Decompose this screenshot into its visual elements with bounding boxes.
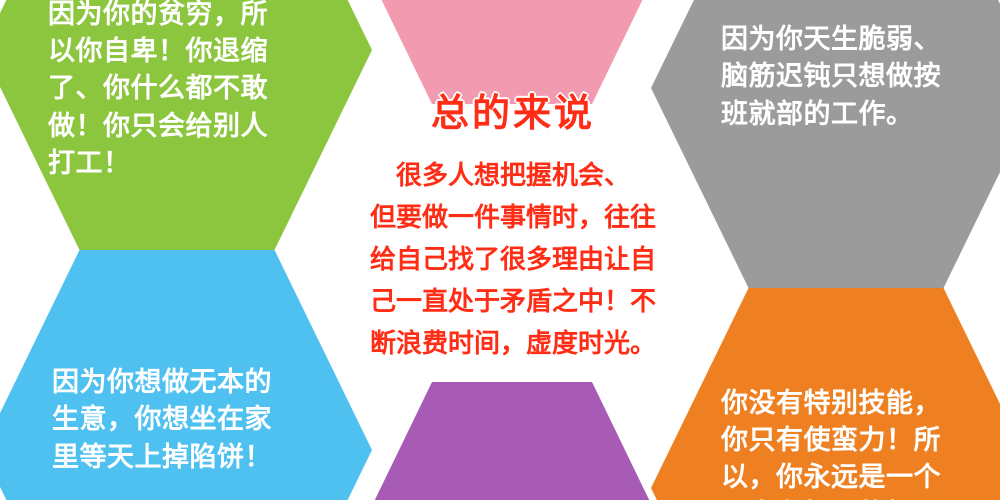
hexagon-green: 因为你的贫穷，所 以你自卑！你退缩 了、你什么都不敢 做！你只会给别人 打工！	[0, 0, 372, 250]
hexagon-orange: 你没有特别技能， 你只有使蛮力！所 以，你永远是一个 一直在打工的打工	[651, 288, 1000, 500]
hexagon-green-text: 因为你的贫穷，所 以你自卑！你退缩 了、你什么都不敢 做！你只会给别人 打工！	[48, 0, 318, 182]
hexagon-orange-text: 你没有特别技能， 你只有使蛮力！所 以，你永远是一个 一直在打工的打工	[721, 385, 989, 500]
infographic-canvas: 因为你的贫穷，所 以你自卑！你退缩 了、你什么都不敢 做！你只会给别人 打工！ …	[0, 0, 1000, 500]
center-title: 总的来说	[352, 82, 674, 137]
hexagon-blue: 因为你想做无本的 生意，你想坐在家 里等天上掉陷饼！	[0, 250, 372, 500]
center-summary: 总的来说 很多人想把握机会、 但要做一件事情时，往往 给自己找了很多理由让自 己…	[352, 60, 674, 420]
hexagon-gray: 因为你天生脆弱、 脑筋迟钝只想做按 班就部的工作。	[651, 0, 1000, 288]
center-body: 很多人想把握机会、 但要做一件事情时，往往 给自己找了很多理由让自 己一直处于矛…	[352, 155, 674, 366]
hexagon-gray-text: 因为你天生脆弱、 脑筋迟钝只想做按 班就部的工作。	[721, 21, 989, 133]
hexagon-blue-text: 因为你想做无本的 生意，你想坐在家 里等天上掉陷饼！	[52, 364, 320, 476]
